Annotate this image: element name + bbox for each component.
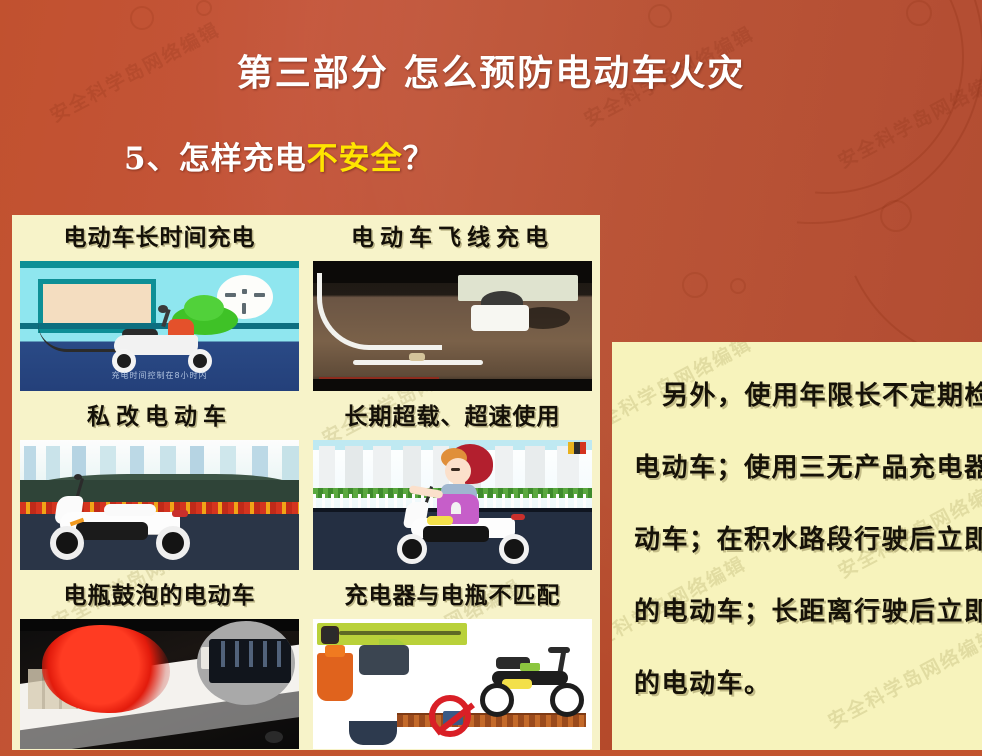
circle-decor [880, 200, 912, 232]
long-time-charging-cartoon: 充电时间控制在8小时内 [20, 261, 299, 391]
circle-decor [648, 4, 672, 28]
grid-caption: 充电器与电瓶不匹配 [309, 573, 596, 619]
battery-zoom-inset [197, 621, 295, 705]
rider-character [431, 444, 503, 522]
subtitle-question-mark: ？ [403, 133, 435, 178]
text-panel-card: 安全科学岛网络编辑 安全科学岛网络编辑 安全科学岛网络编辑 安全科学岛网络编辑 … [612, 342, 982, 751]
grid-caption: 长期超载、超速使用 [309, 394, 596, 440]
text-line: 电动车；使用三无产品充电器的电 [634, 432, 972, 504]
charger-shape [317, 653, 353, 701]
modified-scooter-cartoon [20, 440, 299, 570]
arc-decor [634, 0, 982, 250]
panel-inner-text: 充电时间控制在8小时内 [20, 370, 299, 381]
hanging-cable [317, 273, 442, 350]
grid-cell[interactable]: 电动车飞线充电 [309, 215, 596, 393]
text-line: 的电动车。 [634, 648, 972, 720]
circle-decor [196, 0, 212, 16]
base-shape [349, 721, 397, 745]
slide-root: 安全科学岛网络编辑 安全科学岛网络编辑 安全科学岛网络编辑 安全科学岛网络编辑 … [0, 0, 982, 756]
image-grid-card: 安全科学岛网络编辑 安全科学岛网络编辑 安全科学岛网络编辑 安全科学岛网络编辑 … [12, 215, 600, 751]
grid-cell[interactable]: 私改电动车 [16, 394, 303, 572]
prohibition-icon [429, 695, 471, 737]
overloaded-rider-cartoon [313, 440, 592, 570]
dark-blob [265, 731, 283, 743]
swollen-battery-photo [20, 619, 299, 749]
grid-cell[interactable]: 电瓶鼓泡的电动车 [16, 573, 303, 751]
power-strip [471, 305, 529, 331]
scooter-illustration [106, 317, 218, 371]
photo-letterbox-bottom [313, 379, 592, 391]
circle-decor [130, 6, 154, 30]
circle-decor [682, 272, 708, 298]
subtitle-highlight: 不安全 [307, 133, 403, 178]
circle-decor [906, 0, 932, 26]
text-line: 的电动车；长距离行驶后立即充电 [634, 576, 972, 648]
grid-caption: 电瓶鼓泡的电动车 [16, 573, 303, 619]
subtitle-plain: 怎样充电 [179, 133, 307, 178]
grid-caption: 电动车飞线充电 [309, 215, 596, 261]
section-subtitle: 5、 怎样充电 不安全 ？ [124, 133, 435, 178]
corner-flag [568, 442, 586, 454]
red-glow-highlight [42, 625, 170, 713]
mismatched-charger-infographic [313, 619, 592, 749]
grid-caption: 电动车长时间充电 [16, 215, 303, 261]
circle-decor [730, 278, 746, 294]
grid-cell[interactable]: 电动车长时间充电 充电时间控制在8小时内 [16, 215, 303, 393]
text-panel-lines: 另外，使用年限长不定期检修的 电动车；使用三无产品充电器的电 动车；在积水路段行… [612, 342, 982, 720]
ebike-illustration [476, 643, 586, 721]
bottom-strip [0, 750, 982, 756]
grid-caption: 私改电动车 [16, 394, 303, 440]
grid-cell[interactable]: 长期超载、超速使用 [309, 394, 596, 572]
flying-wire-charging-photo [313, 261, 592, 391]
text-line: 动车；在积水路段行驶后立即充电 [634, 504, 972, 576]
arc-decor [0, 0, 184, 244]
subtitle-number: 5、 [124, 133, 179, 178]
scooter-illustration [46, 482, 202, 560]
text-line: 另外，使用年限长不定期检修的 [634, 360, 972, 432]
battery-pack [209, 639, 291, 683]
ceiling-band [20, 261, 299, 268]
cable-debris [409, 353, 425, 361]
dark-box-shape [359, 645, 409, 675]
page-title: 第三部分 怎么预防电动车火灾 [0, 44, 982, 96]
grid-cell[interactable]: 充电器与电瓶不匹配 [309, 573, 596, 751]
